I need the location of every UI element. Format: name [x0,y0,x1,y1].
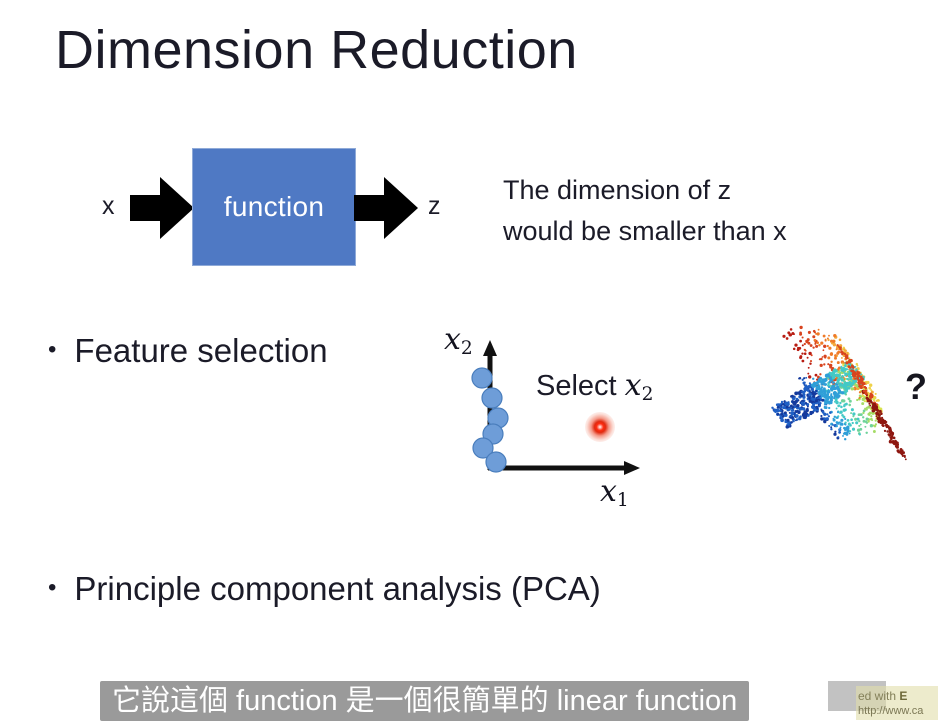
slide-canvas: Dimension Reduction x function z The dim… [0,0,938,724]
dimension-note: The dimension of z would be smaller than… [503,170,787,252]
swiss-roll-scatter [740,318,910,488]
bullet-marker-icon: • [48,574,56,602]
watermark-shadow [828,681,886,711]
bullet-feature-selection-label: Feature selection [74,332,327,369]
x-axis-label: x1 [600,474,629,511]
feature-selection-plot: x2 x1 Select x2 [432,320,692,520]
bullet-pca-label: Principle component analysis (PCA) [74,570,600,607]
select-annotation: Select x2 [536,368,653,405]
question-mark-label: ? [905,366,927,408]
subtitle-bar: 它說這個 function 是一個很簡單的 linear function [100,681,749,721]
function-box-label: function [224,191,324,223]
output-variable-label: z [428,192,441,221]
bullet-pca: •Principle component analysis (PCA) [48,570,601,608]
function-box: function [192,148,356,266]
arrow-right-icon-output [354,175,418,241]
select-annotation-prefix: Select [536,370,625,402]
input-variable-label: x [102,192,115,221]
page-title: Dimension Reduction [55,22,578,79]
laser-pointer-cursor-icon [585,412,615,442]
arrow-right-icon-input [130,175,194,241]
bullet-feature-selection: •Feature selection [48,332,328,370]
select-annotation-math: x2 [625,368,654,403]
scatter-points [472,368,508,472]
subtitle-text: 它說這個 function 是一個很簡單的 linear function [112,681,737,721]
dimension-note-line-2: would be smaller than x [503,211,787,252]
bullet-marker-icon: • [48,336,56,364]
dimension-note-line-1: The dimension of z [503,170,787,211]
y-axis-label: x2 [444,322,473,359]
function-block-diagram: x function z [100,148,460,268]
swiss-roll-svg [740,318,910,488]
